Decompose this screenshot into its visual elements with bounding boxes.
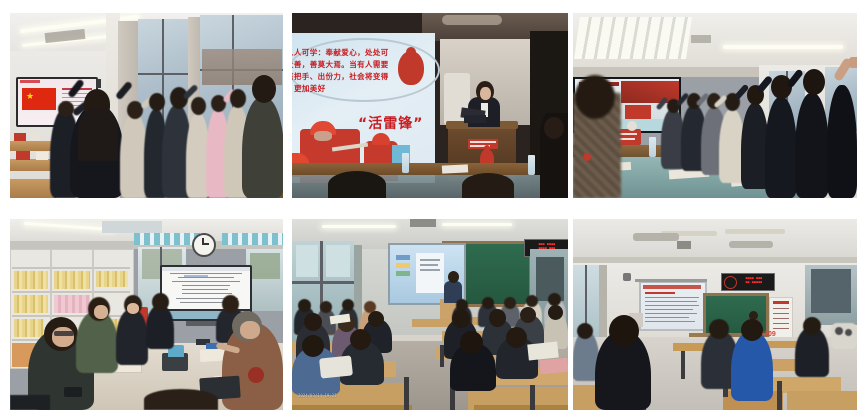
wall-clock [192, 233, 216, 257]
lecture-presentation-scene: 人人可学：奉献爱心，处处可 大善，善莫大焉。当有人需要 搭把手、出份力，社会将变… [292, 13, 568, 198]
presentation-slide: 人人可学：奉献爱心，处处可 大善，善莫大焉。当有人需要 搭把手、出份力，社会将变… [292, 33, 435, 183]
led-sign: ■■■■ ■■■ ■■ ■■■■■ [721, 273, 775, 291]
photo-top-left: ★ [10, 13, 283, 198]
photo-bottom-right: ■■■■ ■■■ ■■ ■■■■■ B109 [573, 219, 857, 410]
timestamp-watermark: 2024/03/14 19:21 [298, 393, 337, 398]
oath-ceremony-scene [573, 13, 857, 198]
archive-meeting-scene [10, 219, 283, 410]
photo-top-center: 人人可学：奉献爱心，处处可 大善，善莫大焉。当有人需要 搭把手、出份力，社会将变… [292, 13, 568, 198]
photo-collage: ★ [0, 0, 857, 418]
photo-bottom-left [10, 219, 283, 410]
slide-headline: “活雷锋” [358, 113, 423, 133]
lecture-hall-scene: ■■■ ■■■■ ■■■■ ■■■ [292, 219, 568, 410]
photo-top-right [573, 13, 857, 198]
projector-screen [639, 281, 707, 331]
photo-bottom-center: ■■■ ■■■■ ■■■■ ■■■ [292, 219, 568, 410]
classroom-lecture-scene: ■■■■ ■■■ ■■ ■■■■■ B109 [573, 219, 857, 410]
classroom-oath-scene: ★ [10, 13, 283, 198]
party-flag: ★ [22, 88, 56, 110]
